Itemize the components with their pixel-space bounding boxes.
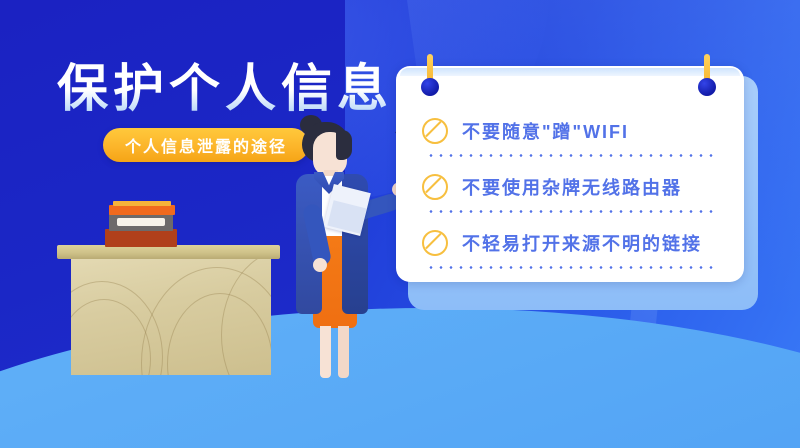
whiteboard: 不要随意"蹭"WIFI 不要使用杂牌无线路由器 不轻易打开来源不明的链接 (396, 66, 758, 310)
prohibition-icon (422, 230, 448, 256)
pin-left-icon (420, 54, 440, 98)
left-leg (320, 326, 331, 378)
book-label (117, 218, 165, 226)
whiteboard-row-text: 不要随意"蹭"WIFI (462, 118, 629, 144)
wooden-podium (57, 245, 280, 375)
prohibition-icon (422, 118, 448, 144)
prohibition-icon (422, 174, 448, 200)
subtitle-badge: 个人信息泄露的途径 (103, 128, 309, 162)
dotted-divider (426, 154, 718, 157)
whiteboard-surface: 不要随意"蹭"WIFI 不要使用杂牌无线路由器 不轻易打开来源不明的链接 (396, 66, 744, 282)
right-leg (338, 326, 349, 378)
page-title: 保护个人信息 (57, 60, 393, 118)
left-hand (313, 258, 327, 272)
whiteboard-row-text: 不要使用杂牌无线路由器 (462, 174, 682, 200)
poster-canvas: 保护个人信息 保护个人信息 个人信息泄露的途径 (0, 0, 800, 448)
hair-side (336, 130, 352, 160)
dotted-divider (426, 210, 718, 213)
whiteboard-row: 不要随意"蹭"WIFI (422, 114, 722, 148)
dotted-divider (426, 266, 718, 269)
book-top (109, 205, 175, 215)
pin-right-icon (697, 54, 717, 98)
whiteboard-rows: 不要随意"蹭"WIFI 不要使用杂牌无线路由器 不轻易打开来源不明的链接 (396, 66, 744, 282)
podium-body (71, 259, 271, 375)
whiteboard-row: 不要使用杂牌无线路由器 (422, 170, 722, 204)
book-cap (113, 201, 171, 206)
stacked-books (105, 201, 177, 247)
whiteboard-row-text: 不轻易打开来源不明的链接 (462, 230, 702, 256)
book-bottom (105, 229, 177, 247)
podium-top (57, 245, 280, 259)
whiteboard-row: 不轻易打开来源不明的链接 (422, 226, 722, 260)
pin-head (698, 78, 716, 96)
pin-head (421, 78, 439, 96)
